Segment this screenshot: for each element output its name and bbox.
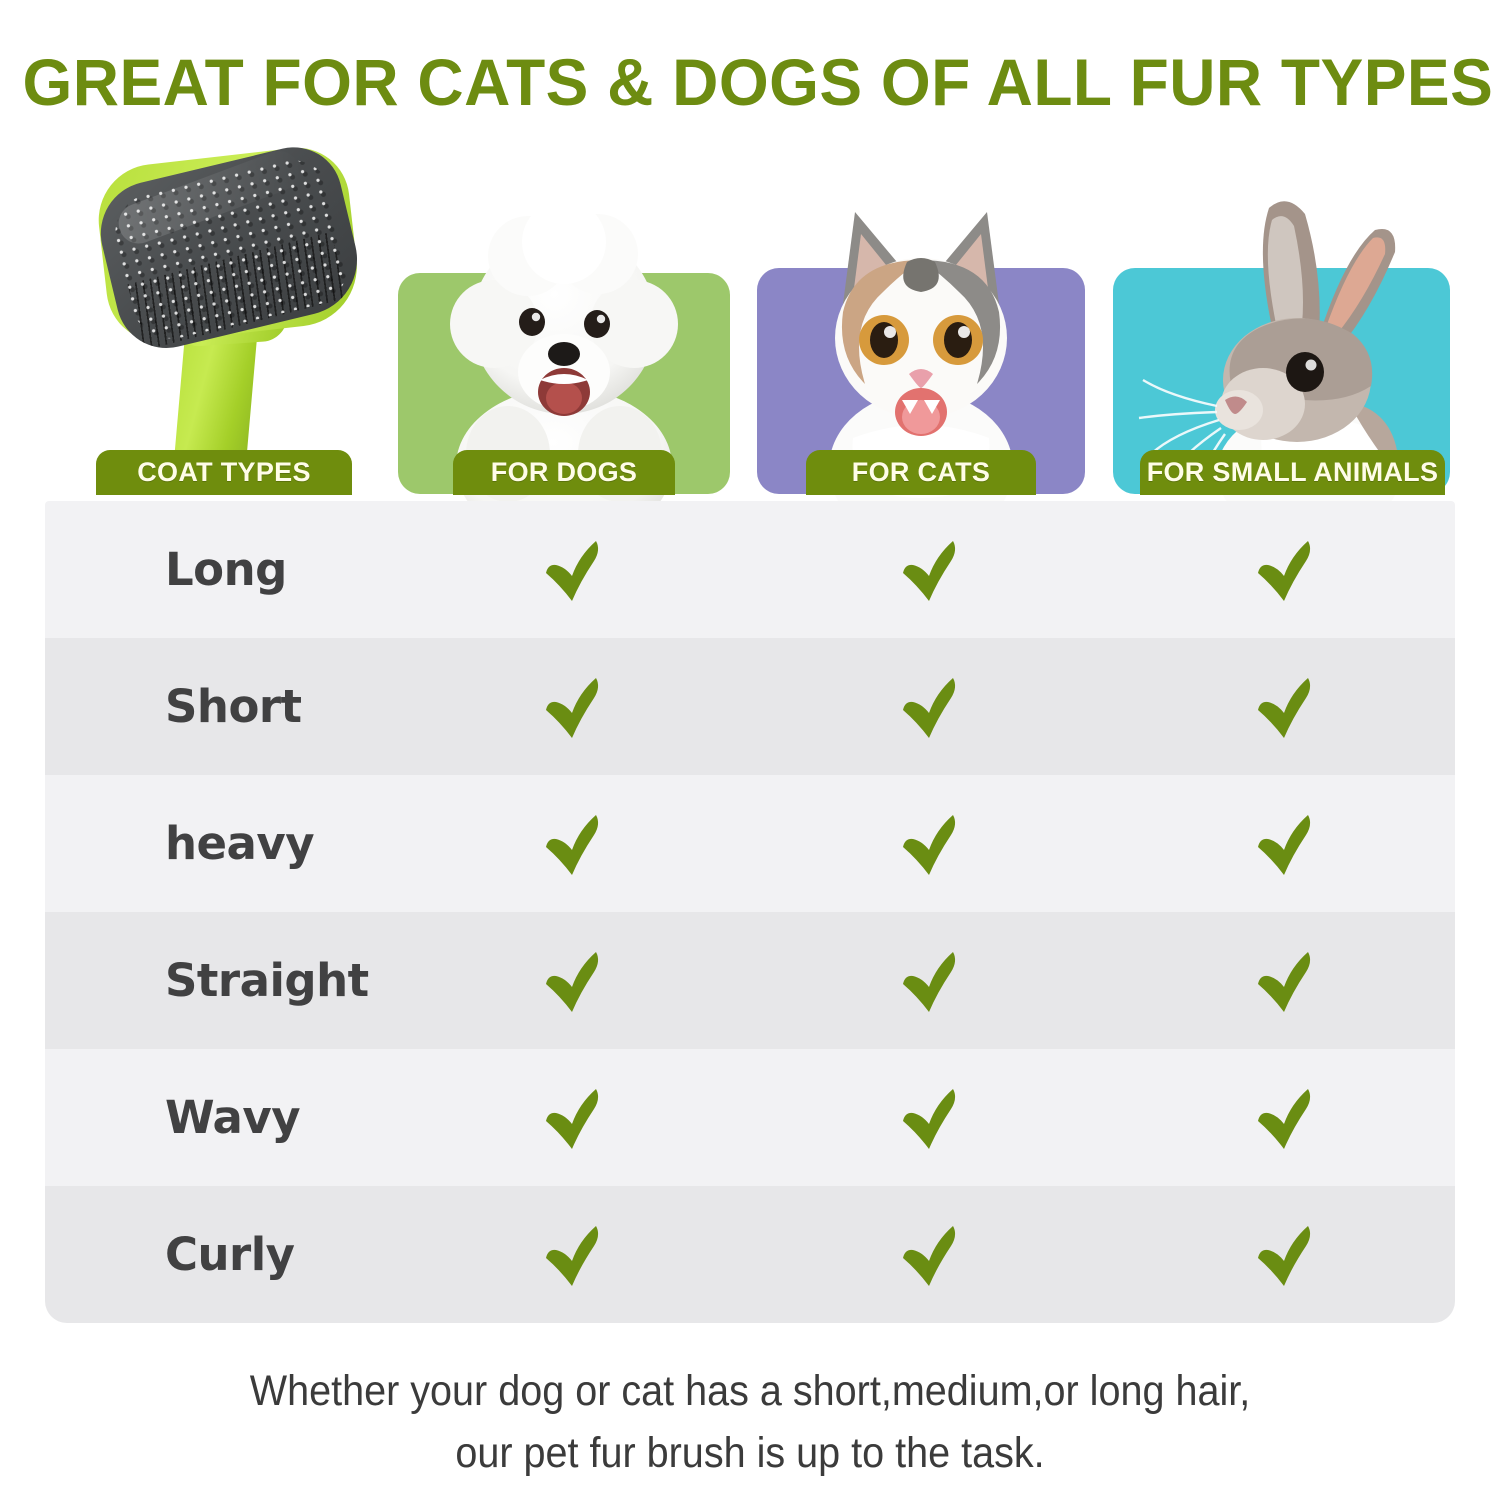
check-icon-cats: [895, 809, 965, 879]
footer-caption: Whether your dog or cat has a short,medi…: [60, 1360, 1440, 1484]
row-label: Curly: [165, 1228, 295, 1281]
table-row: Long: [45, 501, 1455, 638]
check-icon-dogs: [538, 946, 608, 1016]
caption-line-1: Whether your dog or cat has a short,medi…: [60, 1360, 1440, 1422]
check-icon-small-animals: [1250, 946, 1320, 1016]
tab-for-dogs-label: FOR DOGS: [491, 457, 637, 488]
caption-line-2: our pet fur brush is up to the task.: [60, 1422, 1440, 1484]
slicker-brush-icon: [90, 138, 360, 483]
tab-for-cats[interactable]: FOR CATS: [806, 450, 1036, 495]
brush-pad-base: [93, 142, 364, 347]
brush-pin-pad: [90, 137, 368, 358]
check-icon-dogs: [538, 1220, 608, 1290]
tab-coat-types[interactable]: COAT TYPES: [96, 450, 352, 495]
check-icon-cats: [895, 672, 965, 742]
top-media-area: FOR DOGS: [0, 130, 1500, 500]
check-icon-small-animals: [1250, 1220, 1320, 1290]
table-row: Short: [45, 638, 1455, 775]
coat-type-comparison-table: Long Short heavy: [45, 501, 1455, 1323]
check-icon-cats: [895, 946, 965, 1016]
table-row: Wavy: [45, 1049, 1455, 1186]
check-icon-small-animals: [1250, 672, 1320, 742]
table-row: Curly: [45, 1186, 1455, 1323]
cat-photo: [757, 188, 1085, 494]
tab-for-small-animals[interactable]: FOR SMALL ANIMALS: [1140, 450, 1445, 495]
row-label: Straight: [165, 954, 369, 1007]
table-row: heavy: [45, 775, 1455, 912]
row-label: Wavy: [165, 1091, 300, 1144]
check-icon-dogs: [538, 672, 608, 742]
row-label: heavy: [165, 817, 314, 870]
tab-for-small-animals-label: FOR SMALL ANIMALS: [1147, 457, 1439, 488]
check-icon-small-animals: [1250, 1083, 1320, 1153]
check-icon-dogs: [538, 809, 608, 879]
row-label: Long: [165, 543, 287, 596]
table-row: Straight: [45, 912, 1455, 1049]
check-icon-small-animals: [1250, 809, 1320, 879]
check-icon-cats: [895, 1083, 965, 1153]
tab-for-dogs[interactable]: FOR DOGS: [453, 450, 675, 495]
check-icon-dogs: [538, 535, 608, 605]
tab-coat-types-label: COAT TYPES: [137, 457, 311, 488]
check-icon-cats: [895, 535, 965, 605]
check-icon-small-animals: [1250, 535, 1320, 605]
page-title: GREAT FOR CATS & DOGS OF ALL FUR TYPES: [23, 44, 1478, 120]
check-icon-dogs: [538, 1083, 608, 1153]
rabbit-photo: [1113, 188, 1450, 494]
tab-for-cats-label: FOR CATS: [852, 457, 990, 488]
row-label: Short: [165, 680, 302, 733]
check-icon-cats: [895, 1220, 965, 1290]
